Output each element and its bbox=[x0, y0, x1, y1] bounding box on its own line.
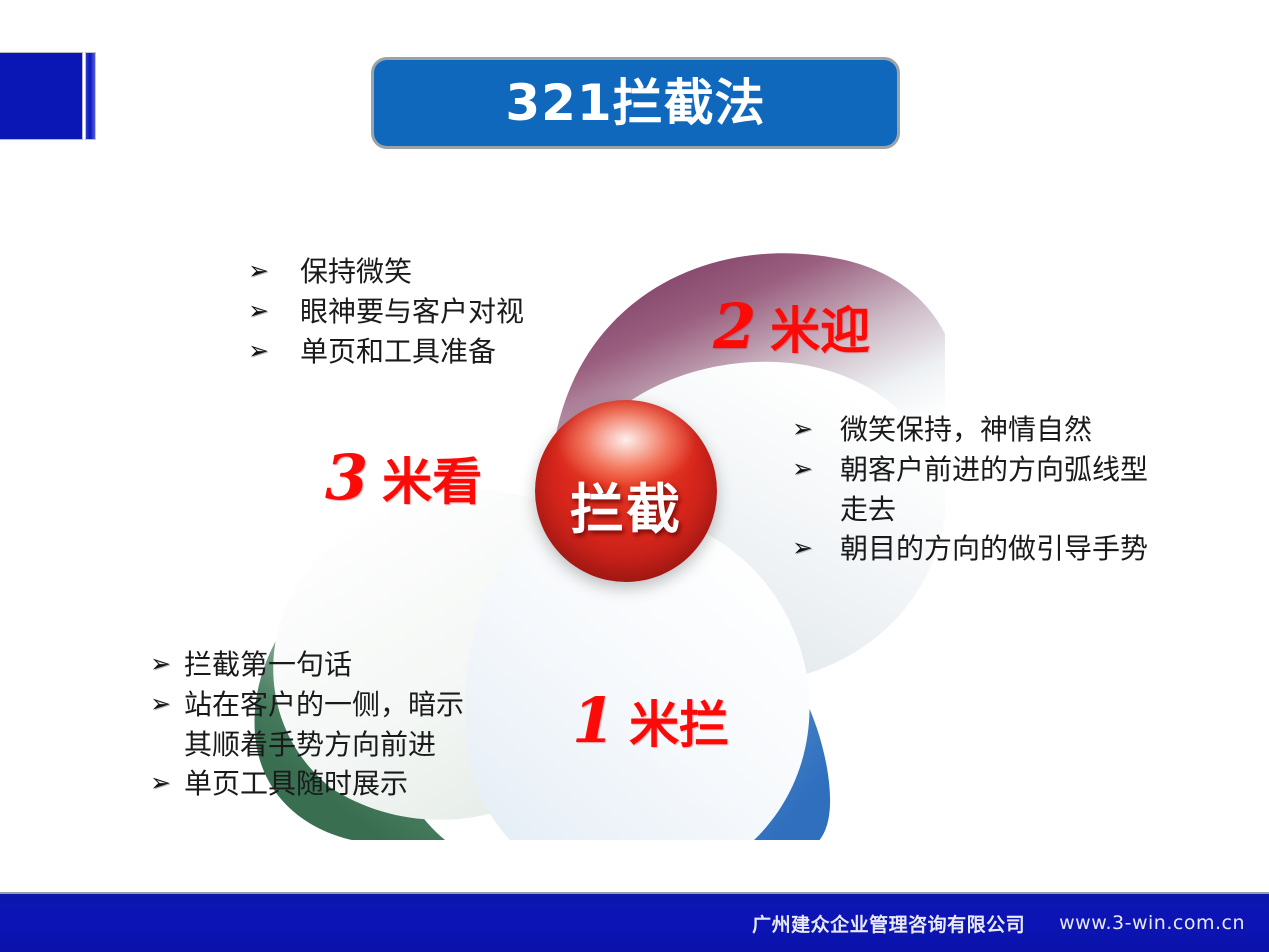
logo-accent-bar bbox=[86, 53, 95, 139]
list-item-label: 单页工具随时展示 bbox=[184, 764, 464, 804]
list-item: ➢ 拦截第一句话 bbox=[150, 645, 464, 685]
step-number-1: 1 bbox=[572, 690, 615, 752]
list-item-label: 朝客户前进的方向弧线型 bbox=[840, 450, 1148, 490]
bullet-spacer: ➢ bbox=[150, 725, 184, 763]
list-item-label: 单页和工具准备 bbox=[300, 332, 524, 372]
arrow-bullet-icon: ➢ bbox=[150, 764, 184, 802]
arrow-bullet-icon: ➢ bbox=[792, 450, 840, 488]
page-title: 321拦截法 bbox=[505, 78, 765, 128]
footer-company-name: 广州建众企业管理咨询有限公司 bbox=[752, 910, 1025, 937]
list-item-label: 微笑保持，神情自然 bbox=[840, 410, 1148, 450]
list-item-continuation: ➢ 走去 bbox=[792, 490, 1148, 530]
logo-block-shape bbox=[0, 53, 82, 139]
step-word-1: 米拦 bbox=[629, 700, 729, 750]
list-item-continuation: ➢ 其顺着手势方向前进 bbox=[150, 725, 464, 765]
list-item: ➢ 微笑保持，神情自然 bbox=[792, 410, 1148, 450]
arrow-bullet-icon: ➢ bbox=[248, 252, 300, 290]
step-label-1: 1 米拦 bbox=[572, 690, 729, 752]
list-item-label: 走去 bbox=[840, 490, 1148, 530]
step-number-3: 3 bbox=[325, 447, 368, 509]
list-item: ➢ 朝客户前进的方向弧线型 bbox=[792, 450, 1148, 490]
bullet-list-right: ➢ 微笑保持，神情自然 ➢ 朝客户前进的方向弧线型 ➢ 走去 ➢ 朝目的方向的做… bbox=[792, 410, 1148, 569]
bullet-spacer: ➢ bbox=[792, 490, 840, 528]
list-item: ➢ 朝目的方向的做引导手势 bbox=[792, 529, 1148, 569]
center-orb: 拦截 bbox=[535, 400, 717, 582]
bullet-list-bottom-left: ➢ 拦截第一句话 ➢ 站在客户的一侧，暗示 ➢ 其顺着手势方向前进 ➢ 单页工具… bbox=[150, 645, 464, 804]
arrow-bullet-icon: ➢ bbox=[792, 529, 840, 567]
arrow-bullet-icon: ➢ bbox=[150, 645, 184, 683]
list-item-label: 拦截第一句话 bbox=[184, 645, 464, 685]
brand-logo bbox=[0, 53, 96, 139]
list-item-label: 其顺着手势方向前进 bbox=[184, 725, 464, 765]
list-item: ➢ 眼神要与客户对视 bbox=[248, 292, 524, 332]
step-word-2: 米迎 bbox=[770, 306, 870, 356]
slide-title-banner: 321拦截法 bbox=[371, 57, 900, 149]
list-item: ➢ 单页和工具准备 bbox=[248, 332, 524, 372]
arrow-bullet-icon: ➢ bbox=[248, 292, 300, 330]
footer-website-url[interactable]: www.3-win.com.cn bbox=[1059, 912, 1245, 934]
list-item-label: 保持微笑 bbox=[300, 252, 524, 292]
list-item: ➢ 保持微笑 bbox=[248, 252, 524, 292]
arrow-bullet-icon: ➢ bbox=[150, 685, 184, 723]
step-word-3: 米看 bbox=[382, 457, 482, 507]
step-label-2: 2 米迎 bbox=[713, 296, 870, 358]
step-label-3: 3 米看 bbox=[325, 447, 482, 509]
slide-canvas: 321拦截法 bbox=[0, 0, 1269, 952]
list-item-label: 站在客户的一侧，暗示 bbox=[184, 685, 464, 725]
slide-footer: 广州建众企业管理咨询有限公司 www.3-win.com.cn bbox=[0, 892, 1269, 952]
step-number-2: 2 bbox=[713, 296, 756, 358]
bullet-list-top-left: ➢ 保持微笑 ➢ 眼神要与客户对视 ➢ 单页和工具准备 bbox=[248, 252, 524, 371]
list-item-label: 眼神要与客户对视 bbox=[300, 292, 524, 332]
arrow-bullet-icon: ➢ bbox=[792, 410, 840, 448]
list-item: ➢ 单页工具随时展示 bbox=[150, 764, 464, 804]
list-item-label: 朝目的方向的做引导手势 bbox=[840, 529, 1148, 569]
arrow-bullet-icon: ➢ bbox=[248, 332, 300, 370]
center-orb-label: 拦截 bbox=[570, 465, 682, 544]
list-item: ➢ 站在客户的一侧，暗示 bbox=[150, 685, 464, 725]
